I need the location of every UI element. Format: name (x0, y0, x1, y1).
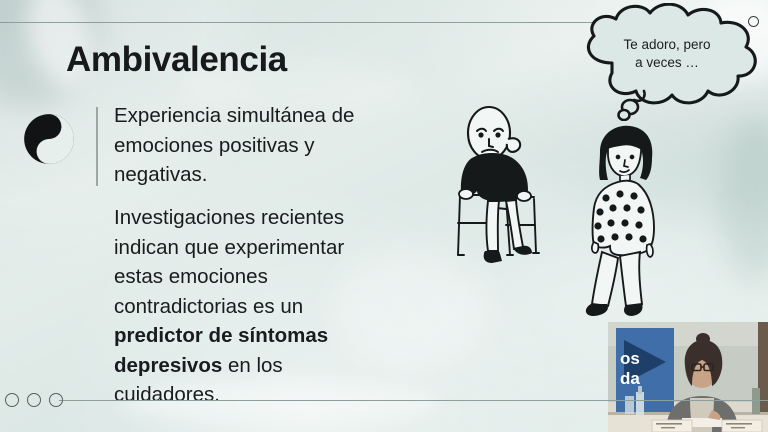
page-title: Ambivalencia (66, 42, 287, 79)
watercolor-texture (720, 120, 768, 280)
svg-text:da: da (620, 369, 640, 388)
webcam-video-frame: os da (608, 322, 768, 432)
yin-yang-icon (22, 112, 76, 166)
speech-bubble-text: Te adoro, pero a veces … (596, 36, 738, 72)
presentation-slide: Ambivalencia Experiencia simultánea de e… (0, 0, 768, 432)
body-paragraph-1: Experiencia simultánea de emociones posi… (114, 101, 389, 190)
elderly-person-with-walker-illustration (444, 103, 560, 275)
footer-divider-line (59, 400, 768, 401)
standing-woman-illustration (574, 124, 674, 322)
progress-dot-1[interactable] (5, 393, 19, 407)
speech-bubble-line-1: Te adoro, pero (596, 36, 738, 54)
svg-text:os: os (620, 349, 640, 368)
accent-divider-line (96, 107, 98, 186)
body-paragraph-2: Investigaciones recientes indican que ex… (114, 203, 379, 410)
progress-dot-3[interactable] (49, 393, 63, 407)
progress-dot-2[interactable] (27, 393, 41, 407)
speech-bubble-line-2: a veces … (596, 54, 738, 72)
speaker-webcam-overlay[interactable]: os da (608, 322, 768, 432)
header-divider-line (0, 22, 618, 23)
paragraph-2-text-pre: Investigaciones recientes indican que ex… (114, 206, 344, 318)
